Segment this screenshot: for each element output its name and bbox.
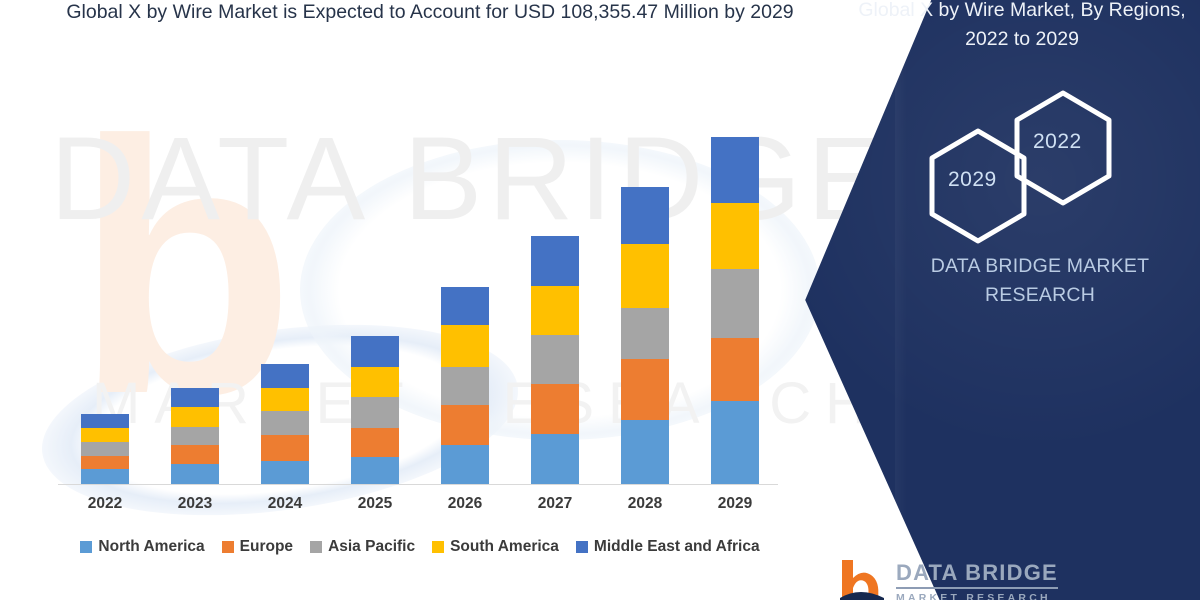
x-axis-label-2028: 2028 — [600, 495, 690, 513]
legend-label: Middle East and Africa — [594, 538, 760, 556]
bar-segment-europe — [351, 428, 399, 457]
bar-segment-europe — [531, 384, 579, 434]
brand-block: DATA BRIDGE MARKET RESEARCH — [880, 252, 1200, 310]
legend-item-south-america[interactable]: South America — [432, 538, 559, 556]
databridge-logo: DATA BRIDGE MARKET RESEARCH — [838, 558, 1198, 600]
x-axis-label-2023: 2023 — [150, 495, 240, 513]
bar-segment-asia-pacific — [171, 427, 219, 445]
databridge-logo-text: DATA BRIDGE MARKET RESEARCH — [896, 560, 1058, 600]
logo-main-text: DATA BRIDGE — [896, 560, 1058, 589]
x-axis-label-2026: 2026 — [420, 495, 510, 513]
stacked-bar-chart — [58, 60, 778, 485]
legend-swatch-icon — [80, 541, 92, 553]
bar-segment-asia-pacific — [621, 308, 669, 359]
legend-swatch-icon — [222, 541, 234, 553]
bar-segment-middle-east-and-africa — [351, 336, 399, 367]
chart-title: Global X by Wire Market is Expected to A… — [60, 0, 800, 27]
bar-segment-south-america — [171, 407, 219, 427]
legend-swatch-icon — [432, 541, 444, 553]
hexagon-badges: 2022 2029 — [905, 88, 1195, 243]
bar-segment-north-america — [621, 420, 669, 484]
bar-2023 — [171, 388, 219, 484]
hexagon-2029-label: 2029 — [948, 168, 997, 192]
bar-segment-middle-east-and-africa — [261, 364, 309, 388]
legend-swatch-icon — [310, 541, 322, 553]
bar-segment-europe — [621, 359, 669, 420]
bar-2025 — [351, 336, 399, 484]
bar-segment-asia-pacific — [441, 367, 489, 405]
bar-segment-middle-east-and-africa — [531, 236, 579, 286]
bar-segment-south-america — [441, 325, 489, 367]
bar-segment-middle-east-and-africa — [81, 414, 129, 428]
legend-item-europe[interactable]: Europe — [222, 538, 293, 556]
x-axis-line — [58, 484, 778, 485]
x-axis-label-2024: 2024 — [240, 495, 330, 513]
bar-segment-asia-pacific — [351, 397, 399, 428]
legend-item-middle-east-and-africa[interactable]: Middle East and Africa — [576, 538, 760, 556]
bar-segment-south-america — [261, 388, 309, 411]
x-axis-label-2029: 2029 — [690, 495, 780, 513]
bar-2027 — [531, 236, 579, 484]
bar-segment-south-america — [81, 428, 129, 442]
x-axis-label-2022: 2022 — [60, 495, 150, 513]
bar-segment-south-america — [711, 203, 759, 269]
infographic-canvas: b DATA BRIDGE MARKET RESEARCH Global X b… — [0, 0, 1200, 600]
bar-segment-middle-east-and-africa — [441, 287, 489, 325]
chart-legend: North AmericaEuropeAsia PacificSouth Ame… — [40, 538, 800, 556]
bar-segment-north-america — [441, 445, 489, 484]
bar-segment-north-america — [261, 461, 309, 484]
legend-label: Europe — [240, 538, 293, 556]
legend-swatch-icon — [576, 541, 588, 553]
bar-segment-middle-east-and-africa — [171, 388, 219, 407]
bar-segment-south-america — [621, 244, 669, 308]
bar-segment-south-america — [531, 286, 579, 335]
legend-label: Asia Pacific — [328, 538, 415, 556]
bar-2024 — [261, 364, 309, 484]
brand-line-2: RESEARCH — [880, 281, 1200, 310]
bar-segment-north-america — [81, 469, 129, 484]
bar-segment-middle-east-and-africa — [621, 187, 669, 244]
bar-segment-north-america — [351, 457, 399, 484]
x-axis-label-2027: 2027 — [510, 495, 600, 513]
bar-segment-europe — [261, 435, 309, 461]
legend-label: North America — [98, 538, 204, 556]
bar-segment-middle-east-and-africa — [711, 137, 759, 203]
bar-segment-europe — [171, 445, 219, 464]
bar-segment-asia-pacific — [711, 269, 759, 338]
legend-item-north-america[interactable]: North America — [80, 538, 204, 556]
bar-2029 — [711, 137, 759, 484]
panel-edge-highlight — [895, 0, 907, 600]
bar-segment-asia-pacific — [531, 335, 579, 384]
bar-segment-north-america — [531, 434, 579, 484]
bar-2022 — [81, 414, 129, 484]
legend-label: South America — [450, 538, 559, 556]
bar-segment-europe — [441, 405, 489, 445]
bar-segment-asia-pacific — [81, 442, 129, 456]
bar-segment-north-america — [711, 401, 759, 484]
bar-2028 — [621, 187, 669, 484]
x-axis-label-2025: 2025 — [330, 495, 420, 513]
bar-segment-asia-pacific — [261, 411, 309, 435]
bar-segment-europe — [81, 456, 129, 469]
brand-line-1: DATA BRIDGE MARKET — [880, 252, 1200, 281]
logo-sub-text: MARKET RESEARCH — [896, 592, 1058, 600]
bar-segment-north-america — [171, 464, 219, 484]
hexagon-2022-label: 2022 — [1033, 130, 1082, 154]
legend-item-asia-pacific[interactable]: Asia Pacific — [310, 538, 415, 556]
databridge-logo-mark — [838, 558, 886, 600]
bar-2026 — [441, 287, 489, 484]
bar-segment-europe — [711, 338, 759, 401]
bar-segment-south-america — [351, 367, 399, 397]
x-axis-labels: 20222023202420252026202720282029 — [58, 495, 778, 521]
